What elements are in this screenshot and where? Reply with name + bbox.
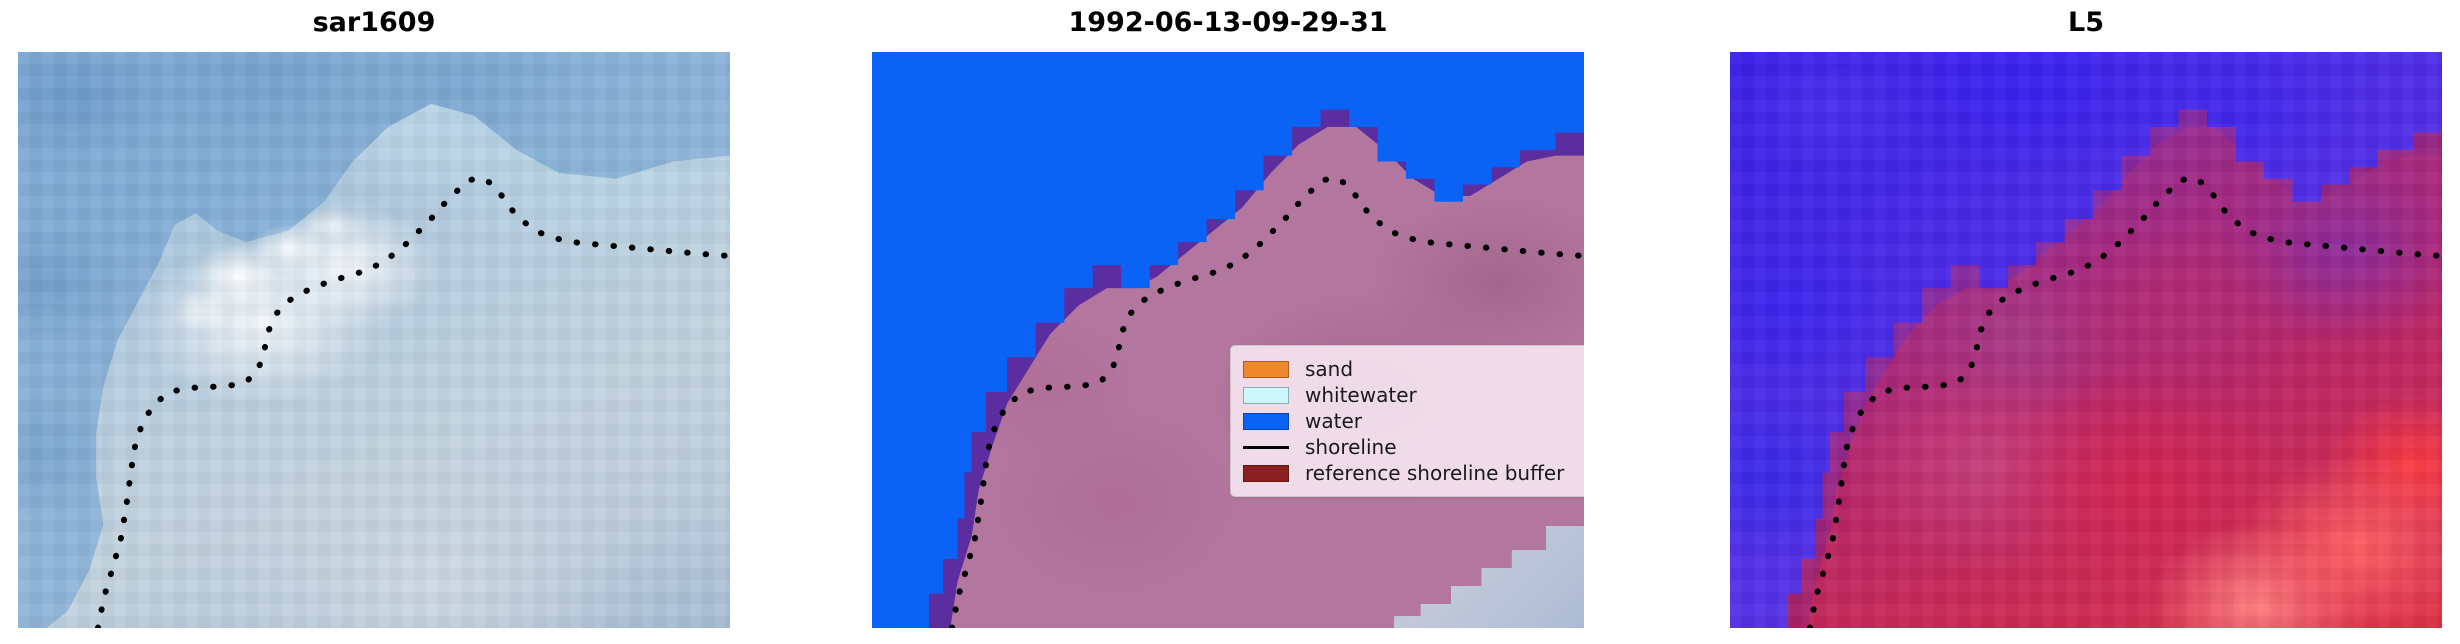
legend-swatch-whitewater (1243, 387, 1289, 404)
image-panel-classified[interactable]: sand whitewater water shoreline referenc… (872, 52, 1584, 628)
l5-pixel-grid-texture (1730, 52, 2442, 628)
sar-pixel-grid-texture (18, 52, 730, 628)
legend-label-water: water (1305, 411, 1362, 431)
legend-item-whitewater: whitewater (1243, 382, 1583, 408)
panel-title-date: 1992-06-13-09-29-31 (872, 6, 1584, 40)
legend-box[interactable]: sand whitewater water shoreline referenc… (1230, 345, 1584, 497)
panel-title-l5: L5 (1730, 6, 2442, 40)
image-panel-l5[interactable] (1730, 52, 2442, 628)
legend-swatch-water (1243, 413, 1289, 430)
legend-item-water: water (1243, 408, 1583, 434)
legend-line-shoreline (1243, 439, 1289, 456)
legend-label-reference-shoreline-buffer: reference shoreline buffer (1305, 463, 1564, 483)
panel-title-sar: sar1609 (18, 6, 730, 40)
figure-canvas: sar1609 1992-06-13-09-29-31 L5 sand (0, 0, 2460, 644)
legend-item-shoreline: shoreline (1243, 434, 1583, 460)
image-panel-sar[interactable] (18, 52, 730, 628)
legend-swatch-sand (1243, 361, 1289, 378)
legend-item-sand: sand (1243, 356, 1583, 382)
legend-item-reference-shoreline-buffer: reference shoreline buffer (1243, 460, 1583, 486)
legend-label-whitewater: whitewater (1305, 385, 1417, 405)
legend-label-sand: sand (1305, 359, 1353, 379)
legend-label-shoreline: shoreline (1305, 437, 1397, 457)
legend-swatch-reference-shoreline-buffer (1243, 465, 1289, 482)
